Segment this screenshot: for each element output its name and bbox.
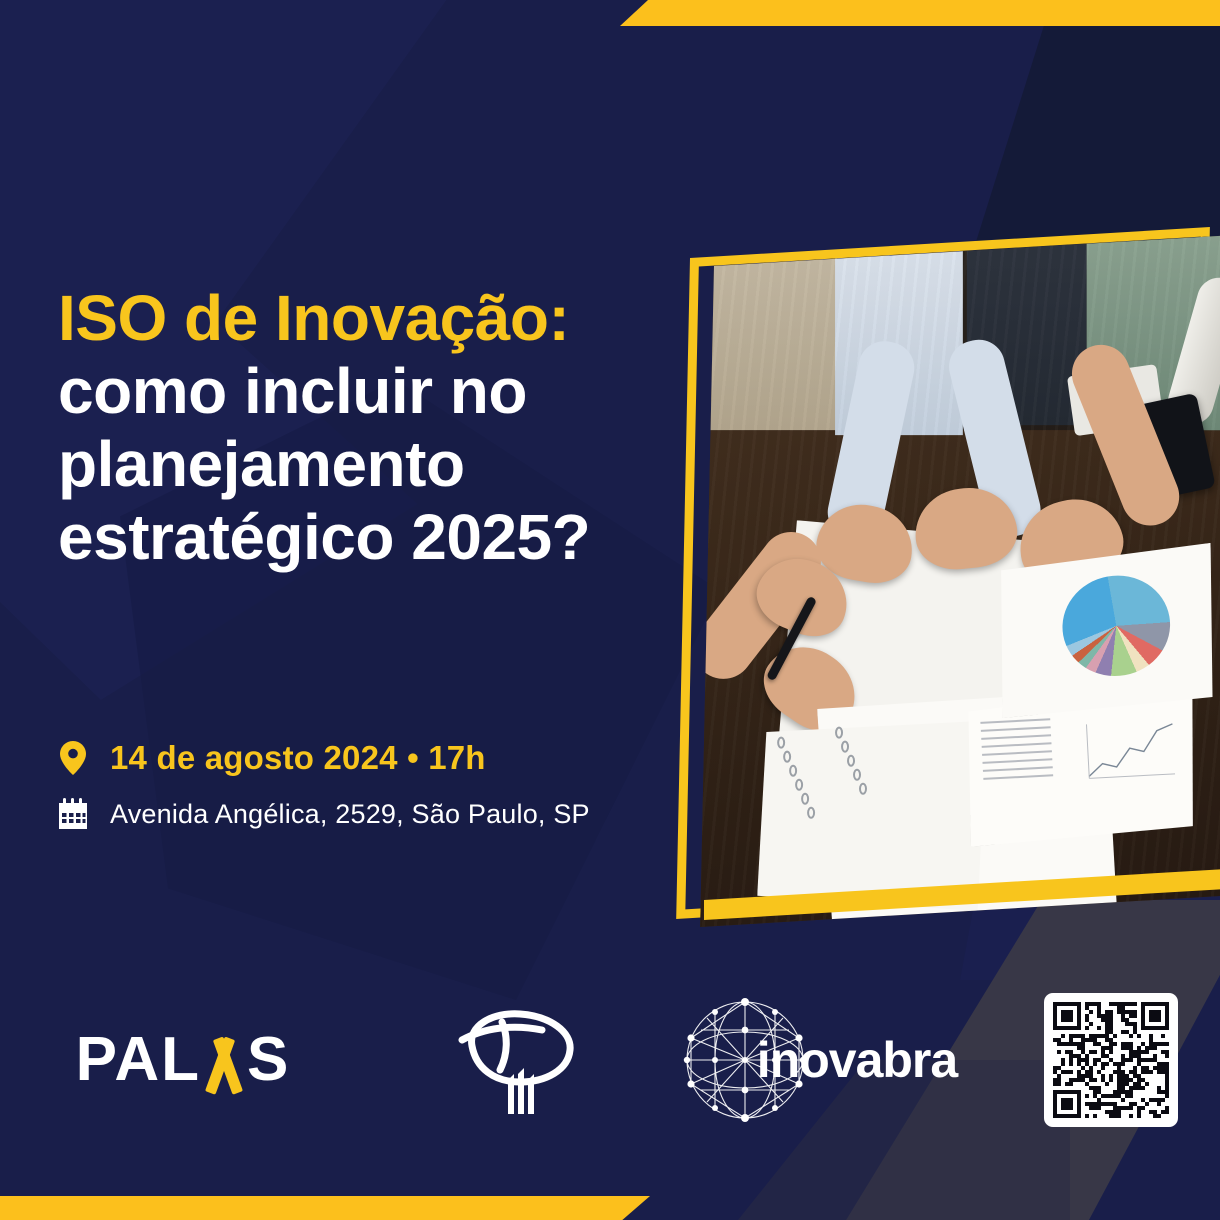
event-photo-panel bbox=[690, 258, 1220, 938]
bradesco-logo bbox=[420, 990, 620, 1130]
headline-line-1: ISO de Inovação: bbox=[58, 282, 718, 355]
calendar-icon bbox=[56, 794, 90, 834]
headline-line-4: estratégico 2025? bbox=[58, 501, 718, 574]
top-yellow-bar bbox=[620, 0, 1220, 26]
headline-line-2: como incluir no bbox=[58, 355, 718, 428]
bradesco-tree-icon bbox=[450, 1002, 590, 1118]
inovabra-wordmark: inovabra bbox=[757, 1031, 957, 1089]
palas-text-after: S bbox=[247, 1029, 290, 1091]
event-address-text: Avenida Angélica, 2529, São Paulo, SP bbox=[110, 799, 590, 830]
inovabra-logo: inovabra bbox=[668, 990, 968, 1130]
event-address-row: Avenida Angélica, 2529, São Paulo, SP bbox=[56, 794, 696, 834]
headline-line-3: planejamento bbox=[58, 428, 718, 501]
event-date-row: 14 de agosto 2024 • 17h bbox=[56, 738, 696, 778]
event-date-text: 14 de agosto 2024 • 17h bbox=[110, 739, 486, 777]
bottom-yellow-bar bbox=[0, 1196, 650, 1220]
qr-code[interactable] bbox=[1036, 990, 1186, 1130]
palas-text-before: PAL bbox=[76, 1029, 201, 1091]
event-photo bbox=[700, 235, 1220, 927]
palas-logo: PAL S bbox=[48, 990, 318, 1130]
poster-canvas: ISO de Inovação: como incluir no planeja… bbox=[0, 0, 1220, 1220]
event-details: 14 de agosto 2024 • 17h bbox=[56, 738, 696, 834]
map-pin-icon bbox=[56, 738, 90, 778]
headline: ISO de Inovação: como incluir no planeja… bbox=[58, 282, 718, 574]
palas-accent-a-icon bbox=[201, 1033, 247, 1091]
partner-logos: PAL S bbox=[0, 990, 1220, 1130]
